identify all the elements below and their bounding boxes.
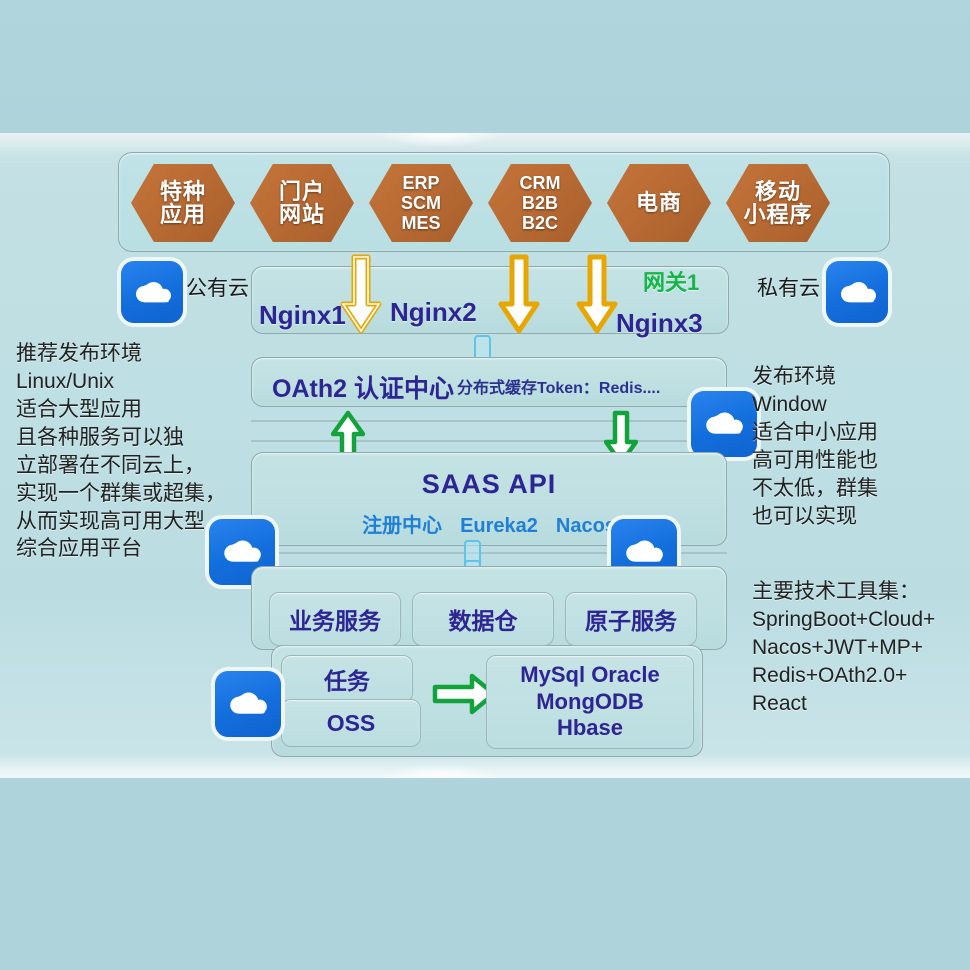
- service-box-atomic-service[interactable]: 原子服务: [565, 592, 697, 646]
- arrow-down-yellow-1: [339, 254, 383, 336]
- note-tech-stack: 主要技术工具集： SpringBoot+Cloud+ Nacos+JWT+MP+…: [752, 578, 967, 718]
- storage-line: MongODB: [536, 689, 644, 716]
- oauth-band: OAth2 认证中心 分布式缓存Token：Redis....: [251, 357, 727, 407]
- saas-title: SAAS API: [252, 469, 726, 500]
- cloud-glyph: [130, 273, 174, 311]
- app-hexagon-ecommerce[interactable]: 电商: [607, 164, 711, 242]
- app-hexagon-label: CRMB2BB2C: [520, 173, 561, 233]
- cloud-icon-private[interactable]: [826, 261, 888, 323]
- cloud-icon-auth[interactable]: [691, 391, 757, 457]
- divider-rule-2: [251, 440, 727, 442]
- registry-label: 注册中心: [362, 515, 442, 537]
- nacos-label: Nacos: [556, 515, 616, 537]
- cloud-icon-public[interactable]: [121, 261, 183, 323]
- cloud-glyph: [700, 403, 746, 443]
- app-hexagon-label: 特种应用: [160, 180, 206, 227]
- application-band: 特种应用门户网站ERPSCMMESCRMB2BB2C电商移动小程序: [118, 152, 890, 252]
- nginx1-label: Nginx1: [259, 300, 346, 331]
- label-public-cloud: 公有云: [186, 272, 249, 302]
- ops-box-task[interactable]: 任务: [281, 655, 413, 703]
- app-hexagon-portal-site[interactable]: 门户网站: [250, 164, 354, 242]
- eureka-label: Eureka2: [460, 515, 538, 537]
- arrow-down-yellow-2: [497, 254, 541, 336]
- nginx2-label: Nginx2: [390, 297, 477, 328]
- application-hexagon-row: 特种应用门户网站ERPSCMMESCRMB2BB2C电商移动小程序: [119, 153, 889, 251]
- app-hexagon-label: 门户网站: [279, 180, 325, 227]
- service-box-business-service[interactable]: 业务服务: [269, 592, 401, 646]
- cloud-glyph: [224, 683, 270, 723]
- label-private-cloud: 私有云: [757, 272, 820, 302]
- oauth-title: OAth2 认证中心: [272, 369, 454, 405]
- diagram-canvas: 特种应用门户网站ERPSCMMESCRMB2BB2C电商移动小程序 公有云 私有…: [0, 0, 970, 970]
- note-left: 推荐发布环境 Linux/Unix 适合大型应用 且各种服务可以独 立部署在不同…: [16, 340, 231, 563]
- cloud-glyph: [835, 273, 879, 311]
- cloud-glyph: [620, 531, 666, 571]
- app-hexagon-crm-b2b-b2c[interactable]: CRMB2BB2C: [488, 164, 592, 242]
- app-hexagon-label: 移动小程序: [743, 180, 812, 227]
- nginx3-label: Nginx3: [616, 308, 703, 339]
- app-hexagon-special-app[interactable]: 特种应用: [131, 164, 235, 242]
- service-box-data-warehouse[interactable]: 数据仓: [412, 592, 554, 646]
- app-hexagon-mobile-miniapp[interactable]: 移动小程序: [726, 164, 830, 242]
- app-hexagon-label: ERPSCMMES: [401, 173, 441, 233]
- note-right: 发布环境 Window 适合中小应用 高可用性能也 不太低，群集 也可以实现: [752, 363, 960, 531]
- ops-box-oss[interactable]: OSS: [281, 699, 421, 747]
- gateway1-label: 网关1: [643, 265, 699, 297]
- cloud-icon-storage[interactable]: [215, 671, 281, 737]
- divider-rule-1: [251, 420, 727, 422]
- app-hexagon-erp-scm-mes[interactable]: ERPSCMMES: [369, 164, 473, 242]
- storage-line: MySql Oracle: [520, 662, 659, 689]
- storage-line: Hbase: [557, 715, 623, 742]
- storage-box[interactable]: MySql OracleMongODBHbase: [486, 655, 694, 749]
- arrow-down-yellow-3: [575, 254, 619, 336]
- oauth-subtitle: 分布式缓存Token：Redis....: [457, 374, 660, 398]
- app-hexagon-label: 电商: [636, 191, 682, 214]
